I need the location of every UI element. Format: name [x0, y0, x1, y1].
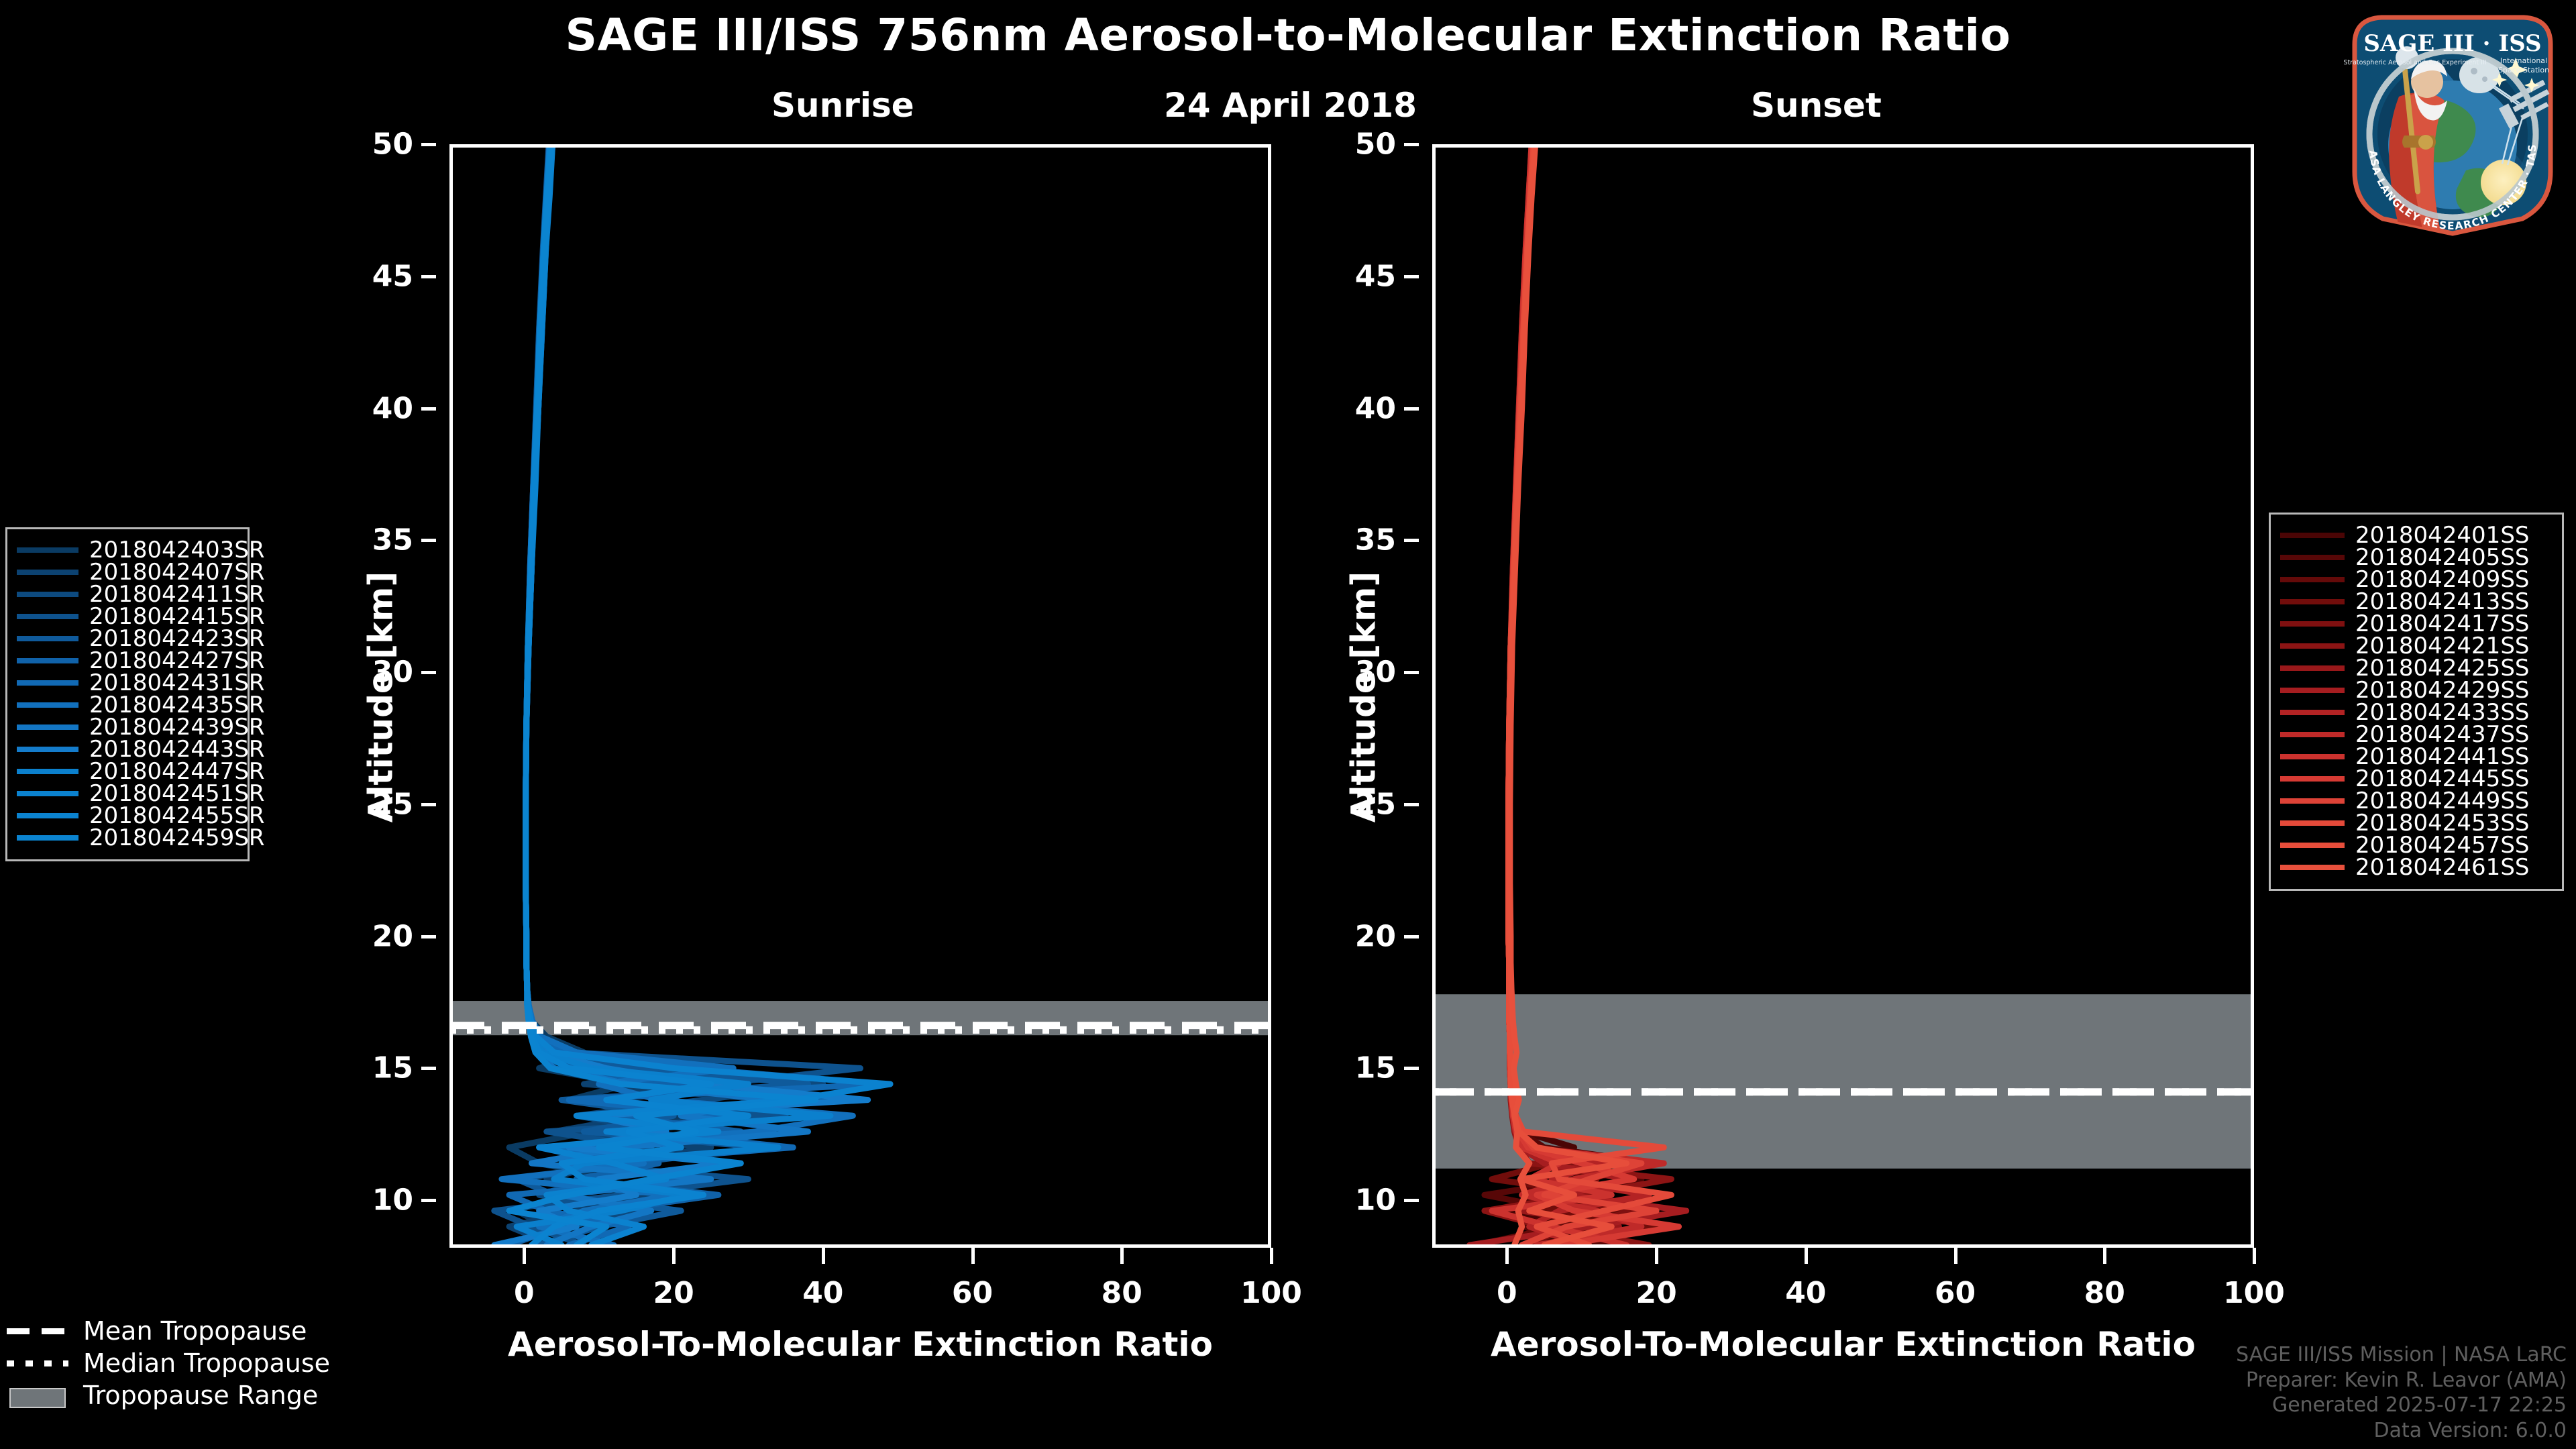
legend-color-swatch-2018042425SS [2280, 665, 2345, 671]
legend-item-2018042429SS[interactable]: 2018042429SS [2280, 679, 2550, 701]
y-tick-label-sunset-10: 10 [1355, 1183, 1396, 1218]
legend-sunset-events: 2018042401SS2018042405SS2018042409SS2018… [2269, 513, 2564, 891]
mean-tropopause-label: Mean Tropopause [83, 1316, 307, 1346]
legend-color-swatch-2018042409SS [2280, 577, 2345, 582]
legend-item-2018042407SR[interactable]: 2018042407SR [17, 561, 235, 583]
x-axis-title-sunset: Aerosol-To-Molecular Extinction Ratio [1432, 1325, 2254, 1364]
legend-color-swatch-2018042411SR [17, 592, 78, 597]
legend-color-swatch-2018042449SS [2280, 798, 2345, 804]
legend-row-tropopause-range: Tropopause Range [7, 1379, 288, 1411]
legend-item-2018042425SS[interactable]: 2018042425SS [2280, 657, 2550, 679]
legend-item-2018042437SS[interactable]: 2018042437SS [2280, 723, 2550, 745]
x-tick-label-sunset-20: 20 [1635, 1276, 1676, 1310]
x-tick-mark-sunrise-80 [1120, 1248, 1124, 1264]
legend-color-swatch-2018042447SR [17, 769, 78, 774]
median-tropopause-line-icon [7, 1354, 68, 1372]
attribution-line-4: Data Version: 6.0.0 [2236, 1418, 2567, 1444]
x-tick-mark-sunset-60 [1954, 1248, 1957, 1264]
legend-sunrise-events: 2018042403SR2018042407SR2018042411SR2018… [5, 527, 250, 861]
x-tick-label-sunset-100: 100 [2223, 1276, 2285, 1310]
legend-item-2018042413SS[interactable]: 2018042413SS [2280, 590, 2550, 612]
x-tick-mark-sunrise-40 [822, 1248, 825, 1264]
legend-item-2018042403SR[interactable]: 2018042403SR [17, 539, 235, 561]
x-tick-label-sunset-0: 0 [1497, 1276, 1517, 1310]
y-tick-mark-sunset-15 [1404, 1067, 1419, 1070]
y-axis-title-sunrise: Altitude [km] [361, 572, 400, 823]
legend-color-swatch-2018042453SS [2280, 820, 2345, 826]
legend-color-swatch-2018042439SR [17, 724, 78, 730]
legend-color-swatch-2018042427SR [17, 658, 78, 663]
x-tick-label-sunrise-0: 0 [514, 1276, 535, 1310]
y-tick-label-sunset-15: 15 [1355, 1051, 1396, 1085]
x-tick-mark-sunset-40 [1805, 1248, 1808, 1264]
legend-label-2018042459SR: 2018042459SR [89, 824, 265, 851]
legend-color-swatch-2018042415SR [17, 614, 78, 619]
date-label: 24 April 2018 [1164, 86, 1417, 125]
legend-color-swatch-2018042407SR [17, 570, 78, 575]
patch-subtitle-right-1: International [2500, 56, 2547, 65]
x-axis-title-sunrise: Aerosol-To-Molecular Extinction Ratio [449, 1325, 1271, 1364]
y-tick-mark-sunrise-45 [421, 275, 436, 278]
legend-row-mean-tropopause: Mean Tropopause [7, 1315, 288, 1347]
y-tick-label-sunrise-15: 15 [372, 1051, 413, 1085]
x-tick-label-sunrise-80: 80 [1102, 1276, 1142, 1310]
legend-color-swatch-2018042431SR [17, 680, 78, 686]
sunrise-label: Sunrise [771, 86, 914, 125]
legend-item-2018042431SR[interactable]: 2018042431SR [17, 672, 235, 694]
legend-item-2018042445SS[interactable]: 2018042445SS [2280, 767, 2550, 790]
legend-color-swatch-2018042457SS [2280, 843, 2345, 848]
legend-item-2018042405SS[interactable]: 2018042405SS [2280, 546, 2550, 568]
legend-item-2018042433SS[interactable]: 2018042433SS [2280, 701, 2550, 723]
legend-item-2018042455SR[interactable]: 2018042455SR [17, 804, 235, 826]
y-tick-mark-sunrise-25 [421, 803, 436, 806]
x-axis-ticks-sunrise: 020406080100 [449, 1248, 1271, 1328]
legend-color-swatch-2018042437SS [2280, 732, 2345, 737]
x-tick-label-sunset-60: 60 [1935, 1276, 1976, 1310]
median-tropopause-label: Median Tropopause [83, 1348, 330, 1378]
y-tick-label-sunrise-40: 40 [372, 391, 413, 425]
attribution-line-1: SAGE III/ISS Mission | NASA LaRC [2236, 1342, 2567, 1368]
legend-item-2018042447SR[interactable]: 2018042447SR [17, 760, 235, 782]
legend-item-2018042415SR[interactable]: 2018042415SR [17, 605, 235, 627]
legend-color-swatch-2018042429SS [2280, 688, 2345, 693]
x-tick-mark-sunset-20 [1655, 1248, 1658, 1264]
legend-color-swatch-2018042417SS [2280, 621, 2345, 627]
x-tick-mark-sunset-0 [1505, 1248, 1509, 1264]
legend-item-2018042409SS[interactable]: 2018042409SS [2280, 568, 2550, 590]
tropopause-range-swatch-icon [7, 1387, 68, 1404]
legend-color-swatch-2018042423SR [17, 636, 78, 641]
sunset-plot-frame [1432, 144, 2254, 1248]
y-tick-label-sunrise-20: 20 [372, 919, 413, 953]
sunrise-plot-panel [449, 144, 1271, 1248]
legend-color-swatch-2018042443SR [17, 747, 78, 752]
x-tick-mark-sunrise-20 [672, 1248, 676, 1264]
legend-label-2018042461SS: 2018042461SS [2355, 854, 2529, 881]
legend-item-2018042401SS[interactable]: 2018042401SS [2280, 524, 2550, 546]
y-tick-label-sunset-35: 35 [1355, 523, 1396, 557]
legend-color-swatch-2018042403SR [17, 547, 78, 553]
y-tick-mark-sunrise-35 [421, 539, 436, 542]
legend-item-2018042443SR[interactable]: 2018042443SR [17, 738, 235, 760]
y-tick-label-sunrise-10: 10 [372, 1183, 413, 1218]
attribution-line-2: Preparer: Kevin R. Leavor (AMA) [2236, 1368, 2567, 1393]
sunset-plot-panel [1432, 144, 2254, 1248]
tropopause-range-label: Tropopause Range [83, 1381, 318, 1410]
legend-color-swatch-2018042435SR [17, 702, 78, 708]
y-tick-mark-sunrise-15 [421, 1067, 436, 1070]
y-tick-mark-sunrise-20 [421, 935, 436, 938]
x-tick-mark-sunrise-0 [523, 1248, 526, 1264]
legend-item-2018042453SS[interactable]: 2018042453SS [2280, 812, 2550, 834]
y-tick-label-sunset-45: 45 [1355, 259, 1396, 293]
legend-item-2018042427SR[interactable]: 2018042427SR [17, 649, 235, 672]
y-tick-mark-sunset-35 [1404, 539, 1419, 542]
y-tick-mark-sunrise-50 [421, 143, 436, 146]
patch-title: SAGE III · ISS [2363, 30, 2541, 57]
legend-item-2018042421SS[interactable]: 2018042421SS [2280, 635, 2550, 657]
legend-item-2018042451SR[interactable]: 2018042451SR [17, 782, 235, 804]
legend-color-swatch-2018042433SS [2280, 710, 2345, 715]
legend-color-swatch-2018042455SR [17, 813, 78, 818]
y-tick-mark-sunrise-30 [421, 671, 436, 674]
legend-item-2018042439SR[interactable]: 2018042439SR [17, 716, 235, 738]
y-tick-mark-sunset-30 [1404, 671, 1419, 674]
legend-tropopause: Mean Tropopause Median Tropopause Tropop… [7, 1315, 288, 1411]
x-tick-mark-sunset-100 [2253, 1248, 2256, 1264]
y-tick-mark-sunset-40 [1404, 407, 1419, 411]
x-tick-mark-sunrise-60 [971, 1248, 975, 1264]
patch-subtitle-left: Stratospheric Aerosol and Gas Experiment… [2343, 59, 2486, 66]
y-tick-label-sunset-40: 40 [1355, 391, 1396, 425]
legend-color-swatch-2018042401SS [2280, 533, 2345, 538]
x-tick-label-sunrise-40: 40 [802, 1276, 843, 1310]
legend-item-2018042423SR[interactable]: 2018042423SR [17, 627, 235, 649]
legend-item-2018042459SR[interactable]: 2018042459SR [17, 826, 235, 849]
attribution-line-3: Generated 2025-07-17 22:25 [2236, 1393, 2567, 1418]
patch-subtitle-right-2: Space Station [2498, 66, 2549, 74]
legend-color-swatch-2018042405SS [2280, 555, 2345, 560]
x-tick-label-sunrise-60: 60 [952, 1276, 993, 1310]
x-axis-ticks-sunset: 020406080100 [1432, 1248, 2254, 1328]
y-tick-mark-sunset-20 [1404, 935, 1419, 938]
y-tick-mark-sunset-45 [1404, 275, 1419, 278]
legend-color-swatch-2018042459SR [17, 835, 78, 841]
y-tick-mark-sunset-25 [1404, 803, 1419, 806]
x-tick-mark-sunset-80 [2103, 1248, 2106, 1264]
legend-color-swatch-2018042421SS [2280, 643, 2345, 649]
y-tick-label-sunset-50: 50 [1355, 127, 1396, 162]
attribution-block: SAGE III/ISS Mission | NASA LaRC Prepare… [2236, 1342, 2567, 1444]
sunset-label: Sunset [1751, 86, 1882, 125]
x-tick-label-sunset-80: 80 [2084, 1276, 2125, 1310]
legend-color-swatch-2018042451SR [17, 791, 78, 796]
y-tick-mark-sunrise-10 [421, 1199, 436, 1202]
legend-color-swatch-2018042461SS [2280, 865, 2345, 870]
y-axis-title-sunset: Altitude [km] [1344, 572, 1383, 823]
sage-iii-iss-mission-patch-icon: SAGE III · ISS Stratospheric Aerosol and… [2334, 3, 2571, 239]
y-tick-label-sunrise-50: 50 [372, 127, 413, 162]
y-tick-mark-sunset-10 [1404, 1199, 1419, 1202]
legend-row-median-tropopause: Median Tropopause [7, 1347, 288, 1379]
legend-item-2018042435SR[interactable]: 2018042435SR [17, 694, 235, 716]
legend-item-2018042457SS[interactable]: 2018042457SS [2280, 834, 2550, 856]
mean-tropopause-line-icon [7, 1322, 68, 1340]
legend-item-2018042449SS[interactable]: 2018042449SS [2280, 790, 2550, 812]
x-tick-label-sunrise-20: 20 [653, 1276, 694, 1310]
legend-item-2018042461SS[interactable]: 2018042461SS [2280, 856, 2550, 878]
legend-color-swatch-2018042441SS [2280, 754, 2345, 759]
legend-item-2018042417SS[interactable]: 2018042417SS [2280, 612, 2550, 635]
x-tick-label-sunrise-100: 100 [1240, 1276, 1302, 1310]
subtitle-row: Sunrise 24 April 2018 Sunset [0, 86, 2576, 133]
y-tick-label-sunrise-45: 45 [372, 259, 413, 293]
y-tick-mark-sunset-50 [1404, 143, 1419, 146]
x-tick-label-sunset-40: 40 [1785, 1276, 1826, 1310]
legend-color-swatch-2018042445SS [2280, 776, 2345, 782]
legend-item-2018042411SR[interactable]: 2018042411SR [17, 583, 235, 605]
page-title: SAGE III/ISS 756nm Aerosol-to-Molecular … [0, 9, 2576, 61]
legend-item-2018042441SS[interactable]: 2018042441SS [2280, 745, 2550, 767]
y-tick-mark-sunrise-40 [421, 407, 436, 411]
y-tick-label-sunrise-35: 35 [372, 523, 413, 557]
legend-color-swatch-2018042413SS [2280, 599, 2345, 604]
y-tick-label-sunset-20: 20 [1355, 919, 1396, 953]
x-tick-mark-sunrise-100 [1270, 1248, 1273, 1264]
sunrise-plot-frame [449, 144, 1271, 1248]
